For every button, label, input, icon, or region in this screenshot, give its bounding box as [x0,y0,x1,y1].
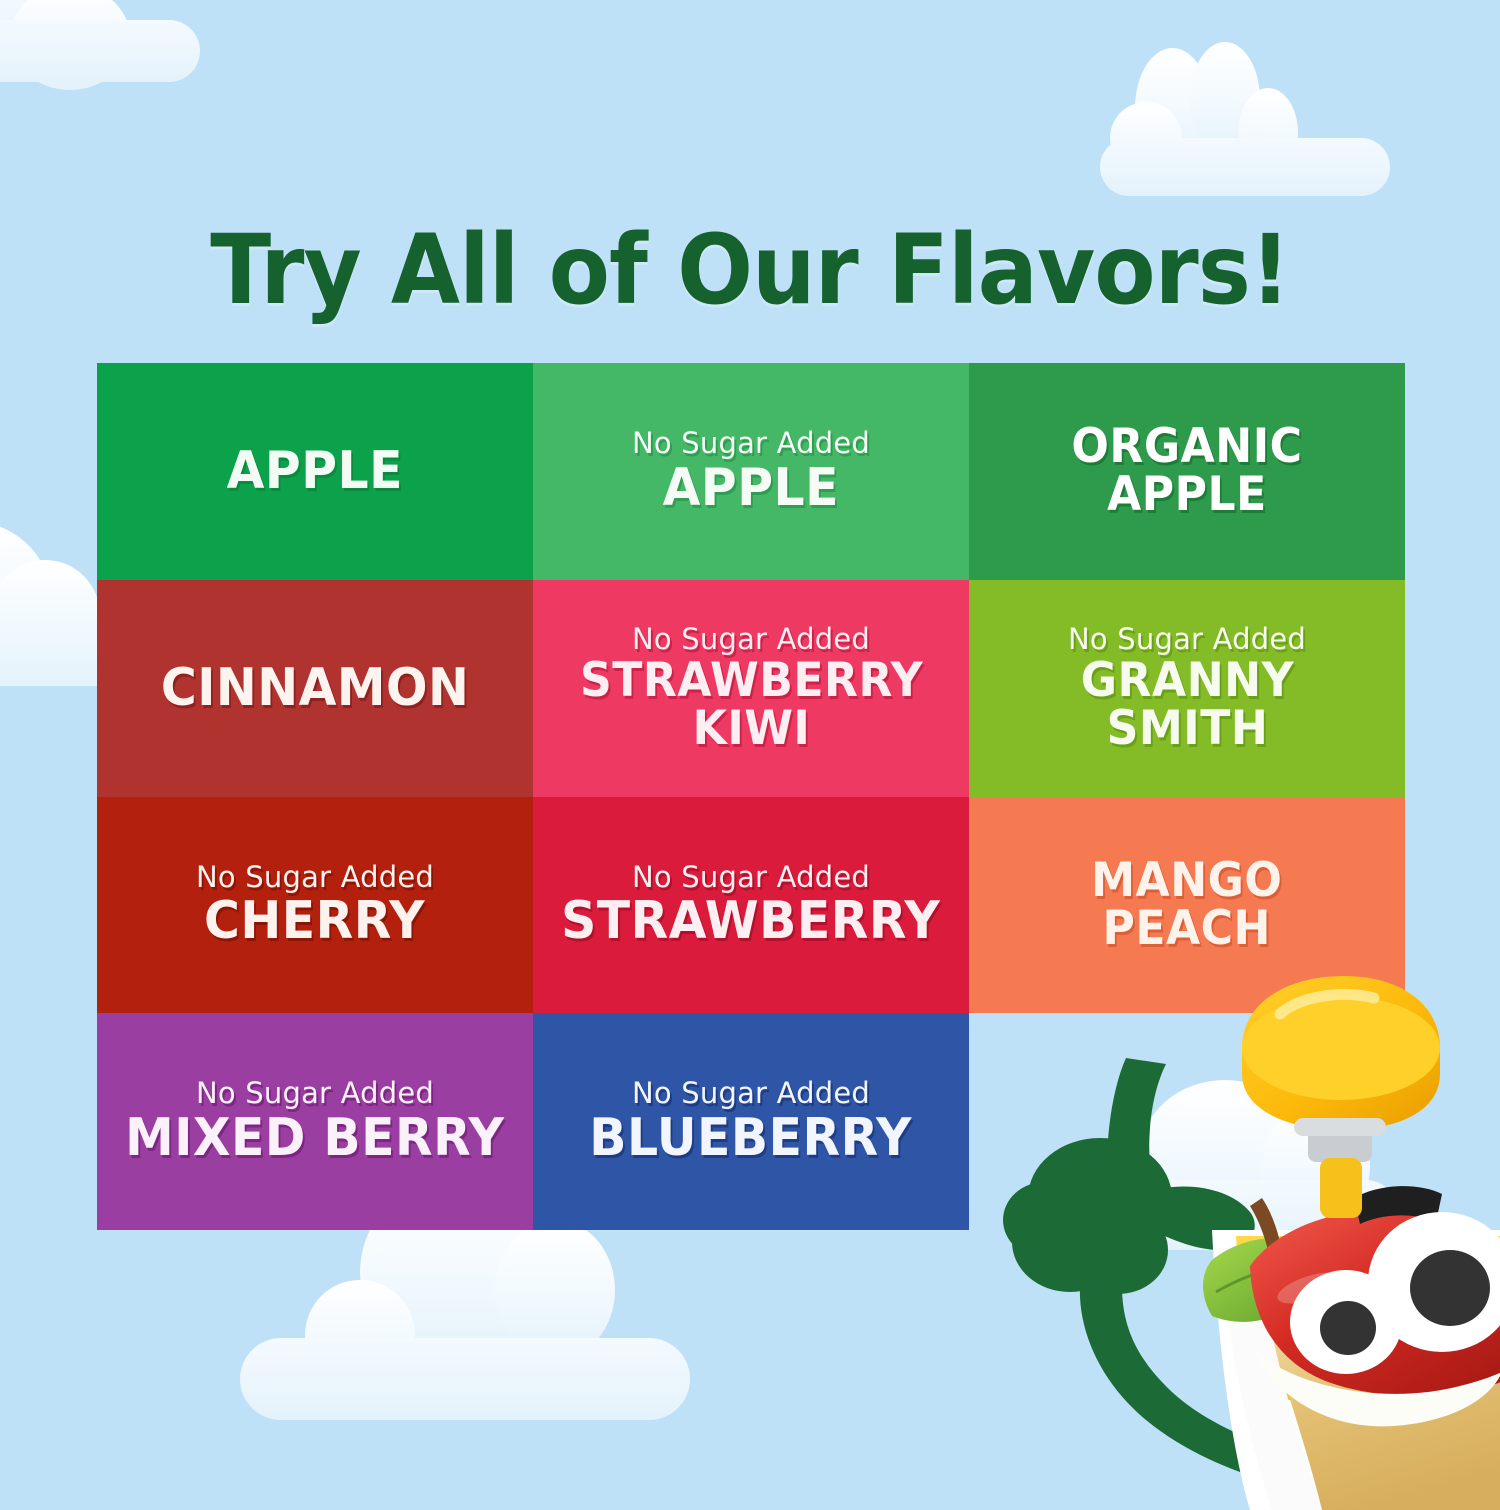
eye-left-pupil [1320,1301,1376,1355]
no-sugar-added-label: No Sugar Added [196,862,434,893]
flavor-name: STRAWBERRYKIWI [579,657,922,753]
flavor-name: CHERRY [204,895,425,948]
no-sugar-added-label: No Sugar Added [632,624,870,655]
flavor-name: BLUEBERRY [590,1112,913,1165]
flavor-name: CINNAMON [161,662,470,715]
flavor-cell-strawberry[interactable]: No Sugar Added STRAWBERRY [533,797,969,1014]
cloud-bottom-center [260,1230,740,1450]
applesauce-pouch-mascot [950,930,1500,1510]
apple-face [1250,1186,1500,1426]
flavor-name: ORGANICAPPLE [1071,423,1302,519]
flavor-cell-strawberry-kiwi[interactable]: No Sugar Added STRAWBERRYKIWI [533,580,969,797]
flavor-name: STRAWBERRY [561,895,940,948]
flavor-cell-granny-smith[interactable]: No Sugar Added GRANNYSMITH [969,580,1405,797]
flavor-cell-cherry[interactable]: No Sugar Added CHERRY [97,797,533,1014]
flavor-name: APPLE [663,462,839,515]
no-sugar-added-label: No Sugar Added [632,1078,870,1109]
eye-right-pupil [1410,1250,1490,1326]
no-sugar-added-label: No Sugar Added [632,862,870,893]
flavor-cell-apple[interactable]: APPLE [97,363,533,580]
pouch-cap-icon [1242,976,1440,1218]
page-title: Try All of Our Flavors! [53,222,1448,318]
cloud-top-right [1110,40,1410,200]
flavor-cell-organic-apple[interactable]: ORGANICAPPLE [969,363,1405,580]
flavor-cell-cinnamon[interactable]: CINNAMON [97,580,533,797]
flavor-name: APPLE [227,445,403,498]
flavor-cell-no-sugar-added-apple[interactable]: No Sugar Added APPLE [533,363,969,580]
cloud-top-left [0,0,220,100]
flavor-cell-blueberry[interactable]: No Sugar Added BLUEBERRY [533,1013,969,1230]
no-sugar-added-label: No Sugar Added [632,428,870,459]
flavor-name: MIXED BERRY [125,1112,504,1165]
flavor-cell-mixed-berry[interactable]: No Sugar Added MIXED BERRY [97,1013,533,1230]
flavor-name: GRANNYSMITH [1080,657,1293,753]
no-sugar-added-label: No Sugar Added [196,1078,434,1109]
no-sugar-added-label: No Sugar Added [1068,624,1306,655]
